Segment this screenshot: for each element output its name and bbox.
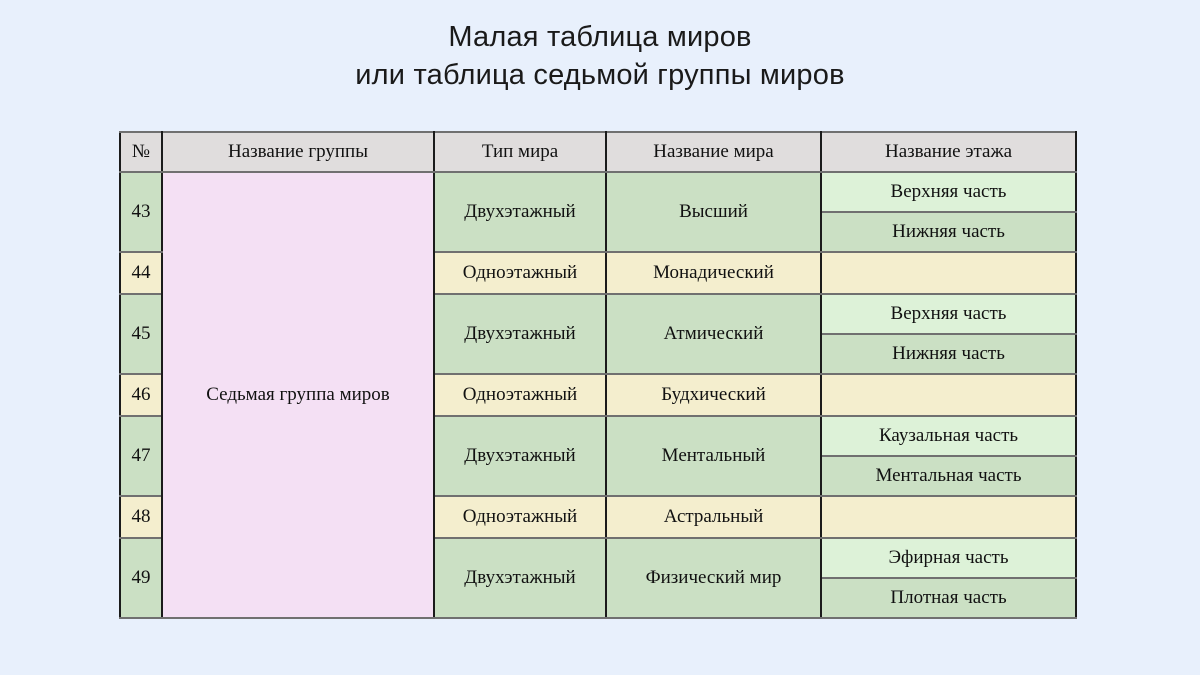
cell-floor-name: Ментальная часть (821, 456, 1076, 496)
column-header-world-name: Название мира (606, 132, 821, 172)
table-header-row: № Название группы Тип мира Название мира… (120, 132, 1076, 172)
cell-world-name: Атмический (606, 294, 821, 374)
cell-world-name: Физический мир (606, 538, 821, 618)
cell-floor-name: Плотная часть (821, 578, 1076, 618)
cell-floor-name: Верхняя часть (821, 172, 1076, 212)
cell-world-type: Двухэтажный (434, 538, 606, 618)
column-header-floor-name: Название этажа (821, 132, 1076, 172)
cell-world-type: Двухэтажный (434, 172, 606, 252)
cell-number: 46 (120, 374, 162, 416)
cell-floor-name: Нижняя часть (821, 334, 1076, 374)
cell-floor-name-empty (821, 252, 1076, 294)
cell-floor-name-empty (821, 496, 1076, 538)
table-row: 43Седьмая группа мировДвухэтажныйВысшийВ… (120, 172, 1076, 212)
cell-world-type: Двухэтажный (434, 416, 606, 496)
cell-floor-name: Эфирная часть (821, 538, 1076, 578)
table-body: 43Седьмая группа мировДвухэтажныйВысшийВ… (120, 172, 1076, 618)
cell-number: 49 (120, 538, 162, 618)
column-header-group-name: Название группы (162, 132, 434, 172)
cell-group-name: Седьмая группа миров (162, 172, 434, 618)
cell-number: 47 (120, 416, 162, 496)
column-header-number: № (120, 132, 162, 172)
cell-number: 43 (120, 172, 162, 252)
cell-world-name: Ментальный (606, 416, 821, 496)
cell-floor-name-empty (821, 374, 1076, 416)
cell-number: 48 (120, 496, 162, 538)
cell-world-type: Одноэтажный (434, 374, 606, 416)
table-header: № Название группы Тип мира Название мира… (120, 132, 1076, 172)
cell-world-type: Одноэтажный (434, 496, 606, 538)
cell-number: 45 (120, 294, 162, 374)
cell-floor-name: Верхняя часть (821, 294, 1076, 334)
cell-world-type: Двухэтажный (434, 294, 606, 374)
worlds-table: № Название группы Тип мира Название мира… (119, 131, 1077, 619)
page-title: Малая таблица миров или таблица седьмой … (0, 18, 1200, 94)
cell-world-name: Монадический (606, 252, 821, 294)
worlds-table-wrapper: № Название группы Тип мира Название мира… (119, 131, 1077, 619)
cell-floor-name: Нижняя часть (821, 212, 1076, 252)
page-title-line-1: Малая таблица миров (0, 18, 1200, 56)
column-header-world-type: Тип мира (434, 132, 606, 172)
cell-floor-name: Каузальная часть (821, 416, 1076, 456)
page-title-line-2: или таблица седьмой группы миров (0, 56, 1200, 94)
cell-world-name: Будхический (606, 374, 821, 416)
cell-world-name: Астральный (606, 496, 821, 538)
cell-world-type: Одноэтажный (434, 252, 606, 294)
cell-number: 44 (120, 252, 162, 294)
cell-world-name: Высший (606, 172, 821, 252)
